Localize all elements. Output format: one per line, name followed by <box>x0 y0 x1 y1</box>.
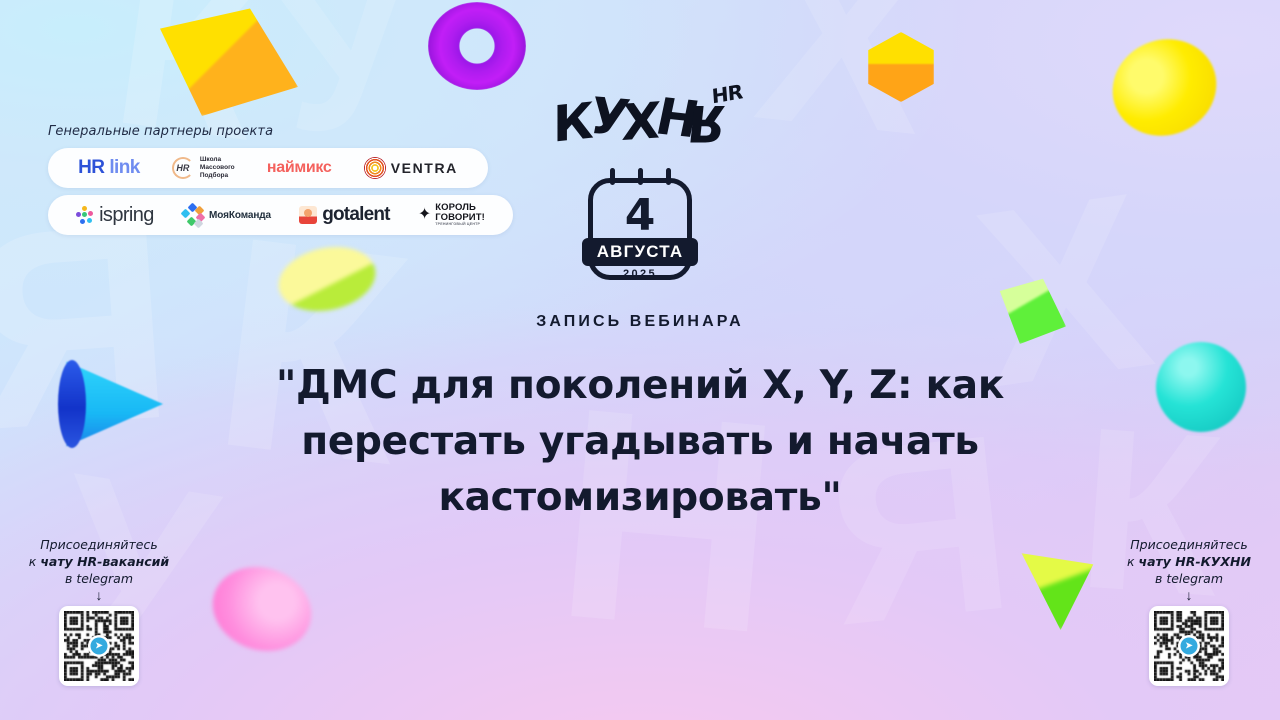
moyakomanda-text: МояКоманда <box>209 210 271 221</box>
date-badge: 4 АВГУСТА 2025 <box>588 168 692 280</box>
qr-right-line2-bold: чату HR-КУХНИ <box>1139 554 1251 569</box>
purple-torus-top <box>428 2 526 90</box>
shkola-line2: Массового <box>200 164 235 171</box>
ispring-text: ispring <box>99 204 154 227</box>
qr-right-caption: Присоединяйтесь к чату HR-КУХНИ в telegr… <box>1098 536 1280 587</box>
telegram-icon: ➤ <box>1181 638 1198 655</box>
cyan-sphere-right <box>1156 342 1246 432</box>
partner-logo-shkola-massovogo-podbora: HR Школа Массового Подбора <box>172 156 235 180</box>
partner-logo-korol-govorit: ✦ КОРОЛЬ ГОВОРИТ! ТРЕНИНГОВЫЙ ЦЕНТР <box>418 203 485 227</box>
page-title: "ДМС для поколений X, Y, Z: как перестат… <box>260 358 1020 526</box>
brand-wordmark: КУХНЯ HR <box>550 92 729 150</box>
shkola-line1: Школа <box>200 156 221 163</box>
qr-left-caption: Присоединяйтесь к чату HR-вакансий в tel… <box>8 536 190 587</box>
qr-code-hr-kuhnya[interactable]: ➤ <box>1149 606 1229 686</box>
shkola-text: Школа Массового Подбора <box>200 156 235 180</box>
qr-code-hr-vacancies[interactable]: ➤ <box>59 606 139 686</box>
hrlink-text-b: link <box>109 157 139 179</box>
partner-logo-naimiks: наймикс <box>267 159 332 177</box>
down-arrow-icon: ↓ <box>8 588 190 603</box>
gotalent-mark-icon <box>299 206 317 224</box>
partner-logo-ventra: VENTRA <box>364 157 458 179</box>
qr-left-line2-plain: к <box>29 554 41 569</box>
ispring-dots-icon <box>76 206 94 224</box>
partner-logo-hrlink: HRlink <box>78 157 140 179</box>
moyakomanda-squares-icon <box>182 204 204 226</box>
kicker-label: ЗАПИСЬ ВЕБИНАРА <box>0 313 1280 331</box>
date-day: 4 <box>588 194 692 238</box>
blue-cone-left <box>58 358 163 450</box>
brand-char-1: К <box>553 92 589 153</box>
brand-superscript-hr: HR <box>711 80 743 109</box>
korol-star-icon: ✦ <box>418 207 431 223</box>
qr-right-line2-plain: к <box>1127 554 1139 569</box>
qr-right-line3: в telegram <box>1155 571 1223 586</box>
ventra-text: VENTRA <box>391 160 458 176</box>
partner-logo-moyakomanda: МояКоманда <box>182 204 271 226</box>
hrlink-text-a: HR <box>78 157 104 179</box>
qr-left-line3: в telegram <box>65 571 133 586</box>
partner-logo-ispring: ispring <box>76 204 154 227</box>
telegram-icon: ➤ <box>91 638 108 655</box>
date-year: 2025 <box>588 268 692 280</box>
korol-line2: ГОВОРИТ! <box>435 213 485 223</box>
partner-logo-row-2: ispring МояКоманда gotalent ✦ <box>48 195 513 235</box>
partner-logo-gotalent: gotalent <box>299 204 390 226</box>
naimiks-text: наймикс <box>267 159 332 177</box>
brand-logo: КУХНЯ HR <box>0 92 1280 150</box>
down-arrow-icon: ↓ <box>1098 588 1280 603</box>
partner-logo-row-1: HRlink HR Школа Массового Подбора наймик… <box>48 148 488 188</box>
gotalent-text: gotalent <box>322 204 390 226</box>
ventra-spiral-icon <box>364 157 386 179</box>
qr-block-hr-vacancies: Присоединяйтесь к чату HR-вакансий в tel… <box>8 536 190 686</box>
shkola-hr-mark-icon: HR <box>172 157 194 179</box>
date-month: АВГУСТА <box>582 238 698 266</box>
shkola-line3: Подбора <box>200 172 228 179</box>
korol-tagline: ТРЕНИНГОВЫЙ ЦЕНТР <box>435 223 485 227</box>
qr-left-line2-bold: чату HR-вакансий <box>40 554 169 569</box>
qr-left-line1: Присоединяйтесь <box>40 537 157 552</box>
poster-canvas: К У Х Я К Х Н Я У К Генеральные партнеры… <box>0 0 1280 720</box>
qr-block-hr-kuhnya: Присоединяйтесь к чату HR-КУХНИ в telegr… <box>1098 536 1280 686</box>
qr-right-line1: Присоединяйтесь <box>1130 537 1247 552</box>
